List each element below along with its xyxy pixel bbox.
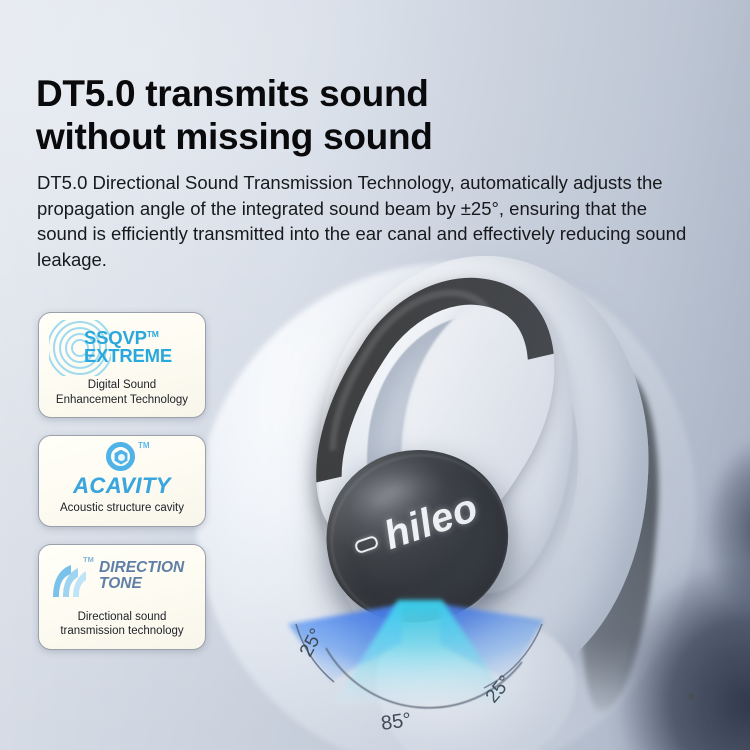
direction-tone-caption: Directional sound transmission technolog… bbox=[47, 610, 197, 639]
ssqvp-logo: SSQVPTM EXTREME bbox=[47, 322, 197, 374]
feature-badge-direction-tone[interactable]: TM DIRECTION TONE Directional sound tran… bbox=[38, 544, 206, 650]
ssqvp-trademark: TM bbox=[147, 329, 159, 339]
ssqvp-caption: Digital Sound Enhancement Technology bbox=[47, 378, 197, 407]
direction-tone-trademark: TM bbox=[83, 555, 94, 564]
ssqvp-caption-line-1: Digital Sound bbox=[47, 378, 197, 393]
acavity-caption: Acoustic structure cavity bbox=[47, 501, 197, 516]
acavity-trademark: TM bbox=[138, 441, 150, 450]
direction-tone-subword: TONE bbox=[99, 576, 184, 592]
direction-tone-logo: TM DIRECTION TONE bbox=[47, 554, 197, 606]
acavity-logo: TM ACAVITY bbox=[47, 445, 197, 497]
page-title: DT5.0 transmits sound without missing so… bbox=[36, 72, 676, 158]
curved-signal-bars-icon bbox=[51, 563, 97, 599]
product-marketing-banner: hileo bbox=[0, 0, 750, 750]
ssqvp-caption-line-2: Enhancement Technology bbox=[47, 393, 197, 408]
page-description: DT5.0 Directional Sound Transmission Tec… bbox=[37, 170, 692, 272]
background-edge-shadow bbox=[640, 430, 750, 630]
hexagon-in-ring-icon: TM bbox=[97, 443, 147, 472]
feature-badge-acavity[interactable]: TM ACAVITY Acoustic structure cavity bbox=[38, 435, 206, 527]
direction-tone-caption-line-2: transmission technology bbox=[47, 624, 197, 639]
headline-line-1: DT5.0 transmits sound bbox=[36, 72, 676, 115]
pill-slot-icon bbox=[353, 534, 379, 554]
direction-tone-caption-line-1: Directional sound bbox=[47, 610, 197, 625]
acavity-wordmark: ACAVITY bbox=[73, 473, 171, 499]
feature-badge-list: SSQVPTM EXTREME Digital Sound Enhancemen… bbox=[38, 312, 206, 650]
feature-badge-ssqvp[interactable]: SSQVPTM EXTREME Digital Sound Enhancemen… bbox=[38, 312, 206, 418]
acavity-caption-line-1: Acoustic structure cavity bbox=[47, 501, 197, 516]
headline-line-2: without missing sound bbox=[36, 115, 676, 158]
background-speck bbox=[689, 693, 694, 700]
direction-tone-wordmark: DIRECTION bbox=[99, 560, 184, 576]
ssqvp-subword: EXTREME bbox=[84, 347, 172, 365]
